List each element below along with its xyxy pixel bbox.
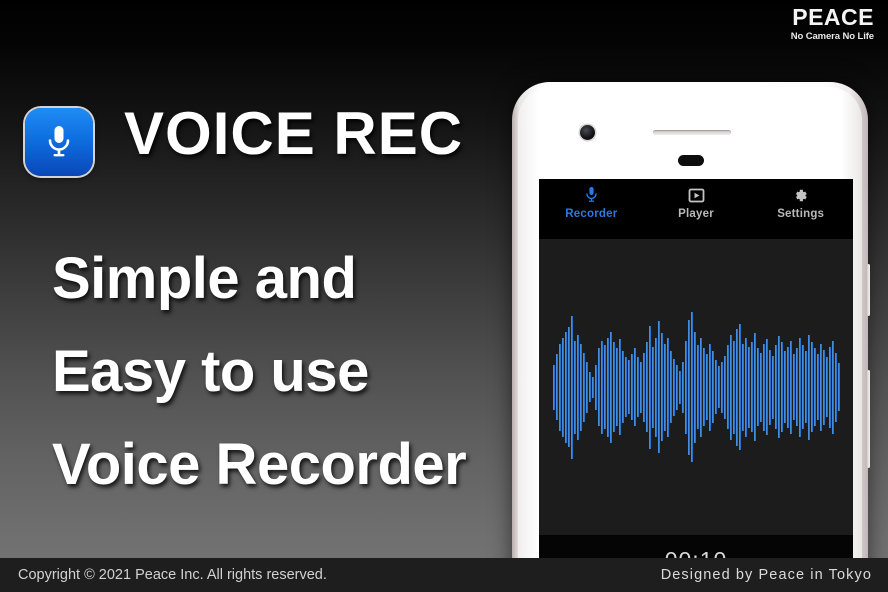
tab-settings-label: Settings [748, 208, 853, 220]
waveform-bar [787, 347, 789, 428]
volume-button[interactable] [867, 264, 870, 316]
waveform-bar [763, 344, 765, 431]
waveform-bar [742, 344, 744, 431]
phone-screen: Recorder Player [539, 179, 853, 592]
power-button[interactable] [867, 370, 870, 468]
waveform-bar [730, 335, 732, 440]
waveform-bar [775, 345, 777, 429]
waveform-bar [778, 336, 780, 438]
waveform-bar [616, 348, 618, 426]
waveform-bar [802, 345, 804, 429]
waveform-bar [583, 353, 585, 422]
waveform-bar [658, 321, 660, 453]
tagline-line-1: Simple and [52, 232, 512, 325]
waveform-bar [838, 363, 840, 411]
waveform-bar [637, 357, 639, 417]
waveform-bar [688, 320, 690, 455]
waveform-bar [619, 339, 621, 435]
waveform-bar [589, 372, 591, 402]
waveform-bar [664, 344, 666, 431]
earpiece-speaker [653, 130, 731, 135]
copyright-text: Copyright © 2021 Peace Inc. All rights r… [18, 567, 327, 583]
waveform-bar [736, 329, 738, 446]
waveform-bar [793, 354, 795, 420]
waveform-bar [733, 341, 735, 434]
waveform-bar [814, 348, 816, 426]
tagline-line-2: Easy to use [52, 325, 512, 418]
waveform-bar [580, 344, 582, 431]
waveform-bar [679, 371, 681, 404]
waveform-bar [646, 342, 648, 432]
waveform-bar [751, 342, 753, 432]
waveform-bar [622, 351, 624, 423]
waveform-bar [673, 359, 675, 416]
waveform-bar [700, 338, 702, 437]
waveform-bar [592, 377, 594, 398]
waveform-bar [766, 339, 768, 435]
waveform-bar [715, 360, 717, 414]
tab-settings[interactable]: Settings [748, 185, 853, 220]
waveform-bar [784, 351, 786, 423]
waveform-bar [697, 345, 699, 429]
play-box-icon [644, 185, 749, 205]
waveform-bar [685, 341, 687, 434]
waveform-bar [631, 354, 633, 420]
waveform-bar [571, 316, 573, 459]
waveform-bar [643, 353, 645, 422]
waveform-bar [718, 366, 720, 408]
waveform-bar [712, 351, 714, 423]
waveform-bar [559, 344, 561, 431]
waveform-bar [682, 362, 684, 413]
waveform-bar [799, 338, 801, 437]
waveform-bar [601, 341, 603, 434]
waveform-bar [727, 345, 729, 429]
waveform-bar [757, 348, 759, 426]
waveform-bar [586, 362, 588, 413]
waveform-bar [562, 338, 564, 437]
tab-bar: Recorder Player [539, 179, 853, 239]
waveform-bar [706, 354, 708, 420]
peace-brand-logo: PEACE No Camera No Life [791, 6, 874, 42]
page-title: VOICE REC [124, 104, 463, 164]
app-icon [25, 108, 93, 176]
tab-player-label: Player [644, 208, 749, 220]
designed-by-text: Designed by Peace in Tokyo [661, 567, 872, 583]
waveform-bar [634, 348, 636, 426]
microphone-icon [539, 185, 644, 205]
waveform-bar [760, 353, 762, 422]
waveform-bar [667, 338, 669, 437]
waveform-bar [604, 345, 606, 429]
waveform-bar [709, 344, 711, 431]
waveform-bar [748, 347, 750, 428]
waveform-bar [556, 354, 558, 420]
waveform-bar [607, 338, 609, 437]
waveform-bar [652, 347, 654, 428]
waveform-bar [754, 333, 756, 441]
waveform-bar [826, 357, 828, 417]
audio-waveform [555, 312, 837, 462]
waveform-bar [676, 365, 678, 410]
tagline-block: Simple and Easy to use Voice Recorder [52, 232, 512, 511]
waveform-bar [739, 324, 741, 450]
waveform-bar [829, 347, 831, 428]
waveform-bar [772, 356, 774, 419]
waveform-bar [625, 357, 627, 417]
phone-mockup: Recorder Player [512, 82, 868, 592]
waveform-bar [832, 341, 834, 434]
waveform-bar [835, 353, 837, 422]
tab-player[interactable]: Player [644, 185, 749, 220]
waveform-bar [796, 348, 798, 426]
waveform-panel [539, 239, 853, 535]
waveform-bar [628, 360, 630, 414]
waveform-bar [610, 332, 612, 443]
tab-recorder[interactable]: Recorder [539, 185, 644, 220]
tagline-line-3: Voice Recorder [52, 418, 512, 511]
tab-recorder-label: Recorder [539, 208, 644, 220]
phone-body: Recorder Player [518, 87, 862, 592]
waveform-bar [769, 350, 771, 425]
brand-name: PEACE [791, 6, 874, 29]
waveform-bar [811, 342, 813, 432]
waveform-bar [823, 350, 825, 425]
waveform-bar [724, 356, 726, 419]
waveform-bar [817, 354, 819, 420]
sensor-pill [678, 155, 704, 166]
waveform-bar [655, 338, 657, 437]
promo-banner: PEACE No Camera No Life VOICE REC Simple… [0, 0, 888, 592]
waveform-bar [661, 333, 663, 441]
waveform-bar [790, 341, 792, 434]
gear-icon [748, 185, 853, 205]
waveform-bar [694, 332, 696, 443]
waveform-bar [745, 338, 747, 437]
waveform-bar [703, 348, 705, 426]
waveform-bar [595, 365, 597, 410]
waveform-bar [691, 312, 693, 462]
waveform-bar [670, 351, 672, 423]
waveform-bar [565, 332, 567, 443]
brand-tagline: No Camera No Life [791, 32, 874, 42]
waveform-bar [649, 326, 651, 449]
waveform-bar [808, 335, 810, 440]
waveform-bar [640, 362, 642, 413]
waveform-bar [553, 365, 555, 410]
footer-bar: Copyright © 2021 Peace Inc. All rights r… [0, 558, 888, 592]
waveform-bar [598, 348, 600, 426]
waveform-bar [568, 327, 570, 447]
waveform-bar [577, 335, 579, 440]
microphone-icon [44, 122, 74, 162]
waveform-bar [613, 342, 615, 432]
waveform-bar [574, 341, 576, 434]
front-camera-icon [580, 125, 595, 140]
waveform-bar [721, 362, 723, 413]
waveform-bar [781, 342, 783, 432]
waveform-bar [805, 351, 807, 423]
waveform-bar [820, 344, 822, 431]
